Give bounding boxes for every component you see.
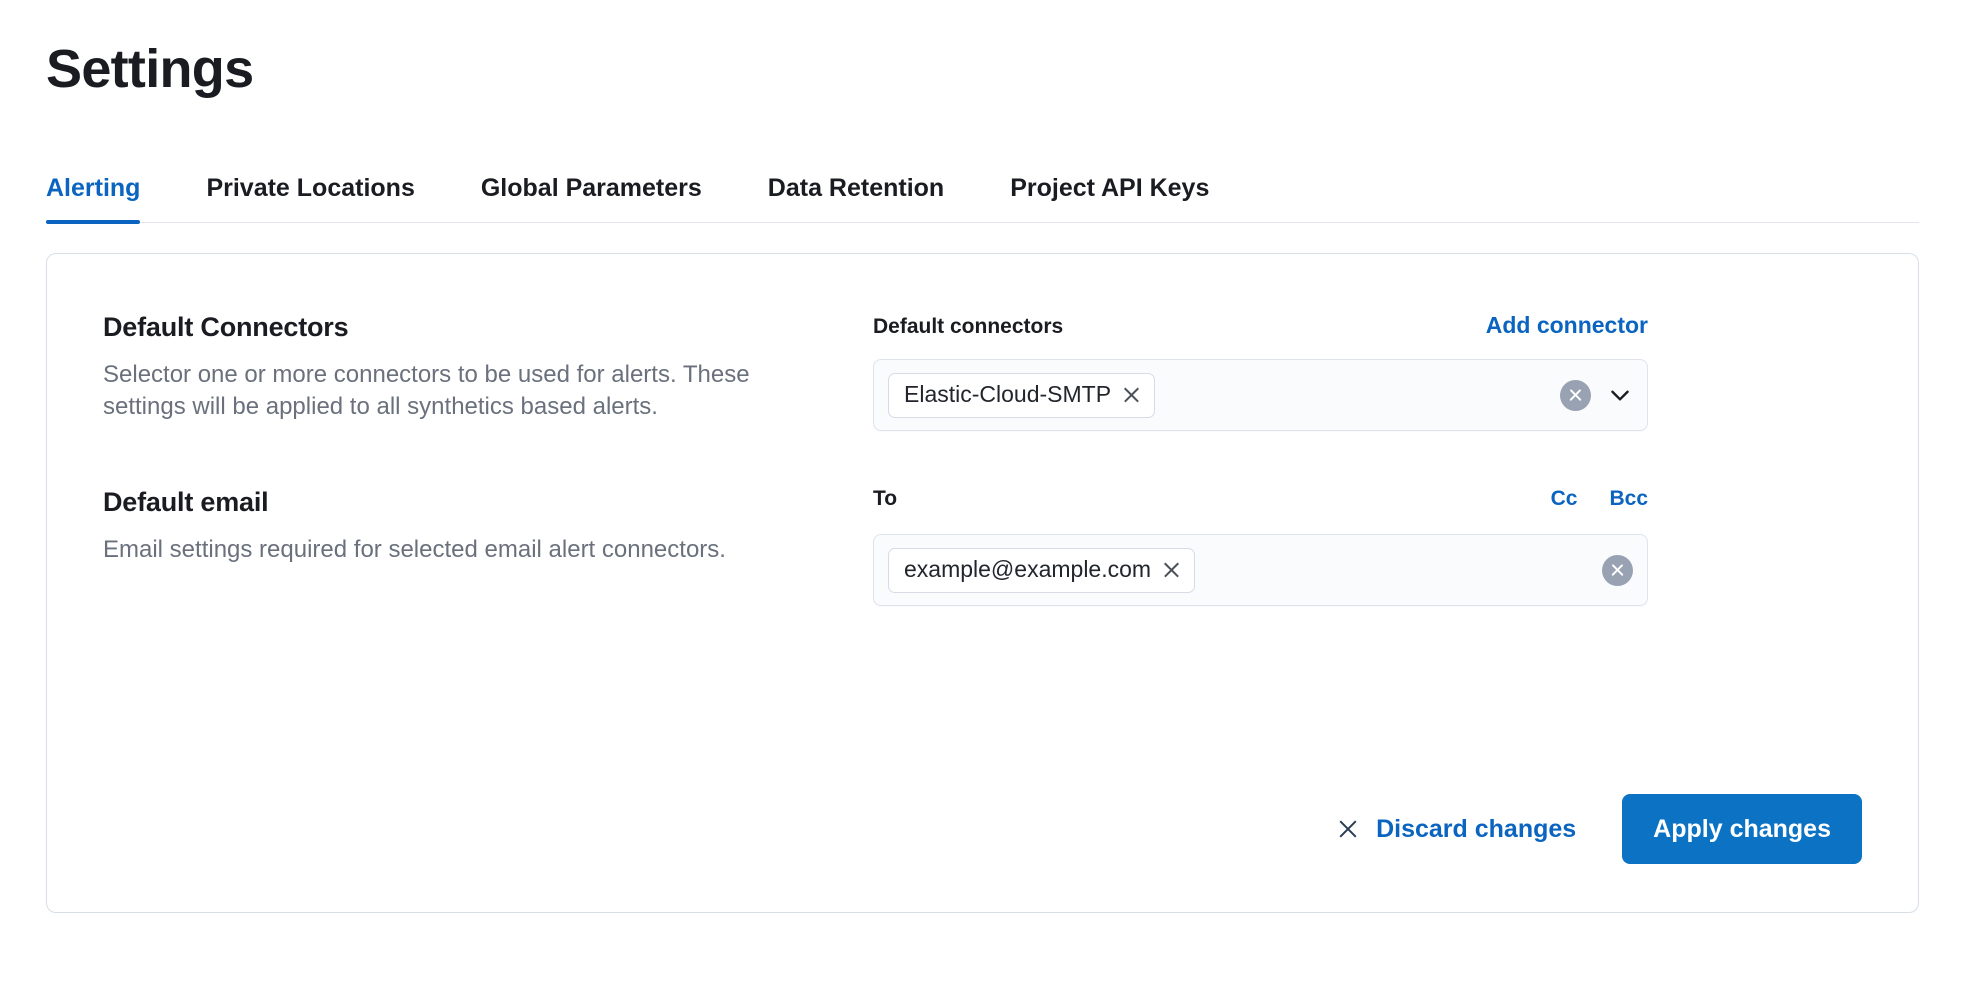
connector-pill[interactable]: Elastic-Cloud-SMTP [888,373,1155,418]
default-connectors-combobox[interactable]: Elastic-Cloud-SMTP [873,359,1648,431]
settings-page: Settings Alerting Private Locations Glob… [0,0,1965,989]
default-connectors-section: Default Connectors Selector one or more … [103,312,1862,431]
cc-link[interactable]: Cc [1551,487,1578,511]
clear-circle-icon[interactable] [1602,555,1633,586]
discard-changes-label: Discard changes [1376,815,1576,844]
to-recipients-list: example@example.com [888,548,1590,593]
panel-footer-actions: Discard changes Apply changes [1323,794,1862,864]
page-title: Settings [46,0,1919,99]
recipient-pill[interactable]: example@example.com [888,548,1195,593]
apply-changes-button[interactable]: Apply changes [1622,794,1862,864]
default-email-description: Email settings required for selected ema… [103,534,833,566]
default-connectors-description: Selector one or more connectors to be us… [103,359,833,423]
default-connectors-selected-list: Elastic-Cloud-SMTP [888,373,1548,418]
default-connectors-controls [1560,380,1633,411]
default-email-field-column: To Cc Bcc example@example.com [873,487,1648,606]
tab-private-locations[interactable]: Private Locations [206,174,414,222]
default-connectors-field-header: Default connectors Add connector [873,312,1648,342]
tab-project-api-keys[interactable]: Project API Keys [1010,174,1209,222]
tab-alerting[interactable]: Alerting [46,174,140,222]
bcc-link[interactable]: Bcc [1609,487,1648,511]
to-recipients-controls [1602,555,1633,586]
email-field-actions: Cc Bcc [1551,487,1648,511]
recipient-pill-label: example@example.com [904,556,1151,584]
tab-data-retention[interactable]: Data Retention [768,174,944,222]
add-connector-link[interactable]: Add connector [1486,312,1648,339]
default-connectors-description-column: Default Connectors Selector one or more … [103,312,873,423]
default-email-field-header: To Cc Bcc [873,487,1648,517]
chevron-down-icon[interactable] [1607,382,1633,408]
discard-changes-button[interactable]: Discard changes [1323,805,1590,854]
clear-circle-icon[interactable] [1560,380,1591,411]
close-x-icon [1337,818,1359,840]
default-email-section: Default email Email settings required fo… [103,487,1862,606]
to-recipients-combobox[interactable]: example@example.com [873,534,1648,606]
default-email-description-column: Default email Email settings required fo… [103,487,873,566]
default-connectors-field-actions: Add connector [1486,312,1648,339]
default-email-heading: Default email [103,487,833,518]
to-label: To [873,487,897,511]
alerting-settings-panel: Default Connectors Selector one or more … [46,253,1919,913]
default-connectors-heading: Default Connectors [103,312,833,343]
settings-tab-bar: Alerting Private Locations Global Parame… [46,157,1919,223]
default-connectors-label: Default connectors [873,315,1063,339]
tab-global-parameters[interactable]: Global Parameters [481,174,702,222]
default-connectors-field-column: Default connectors Add connector Elastic… [873,312,1648,431]
remove-connector-icon[interactable] [1122,385,1141,404]
remove-recipient-icon[interactable] [1162,560,1181,579]
connector-pill-label: Elastic-Cloud-SMTP [904,381,1111,409]
